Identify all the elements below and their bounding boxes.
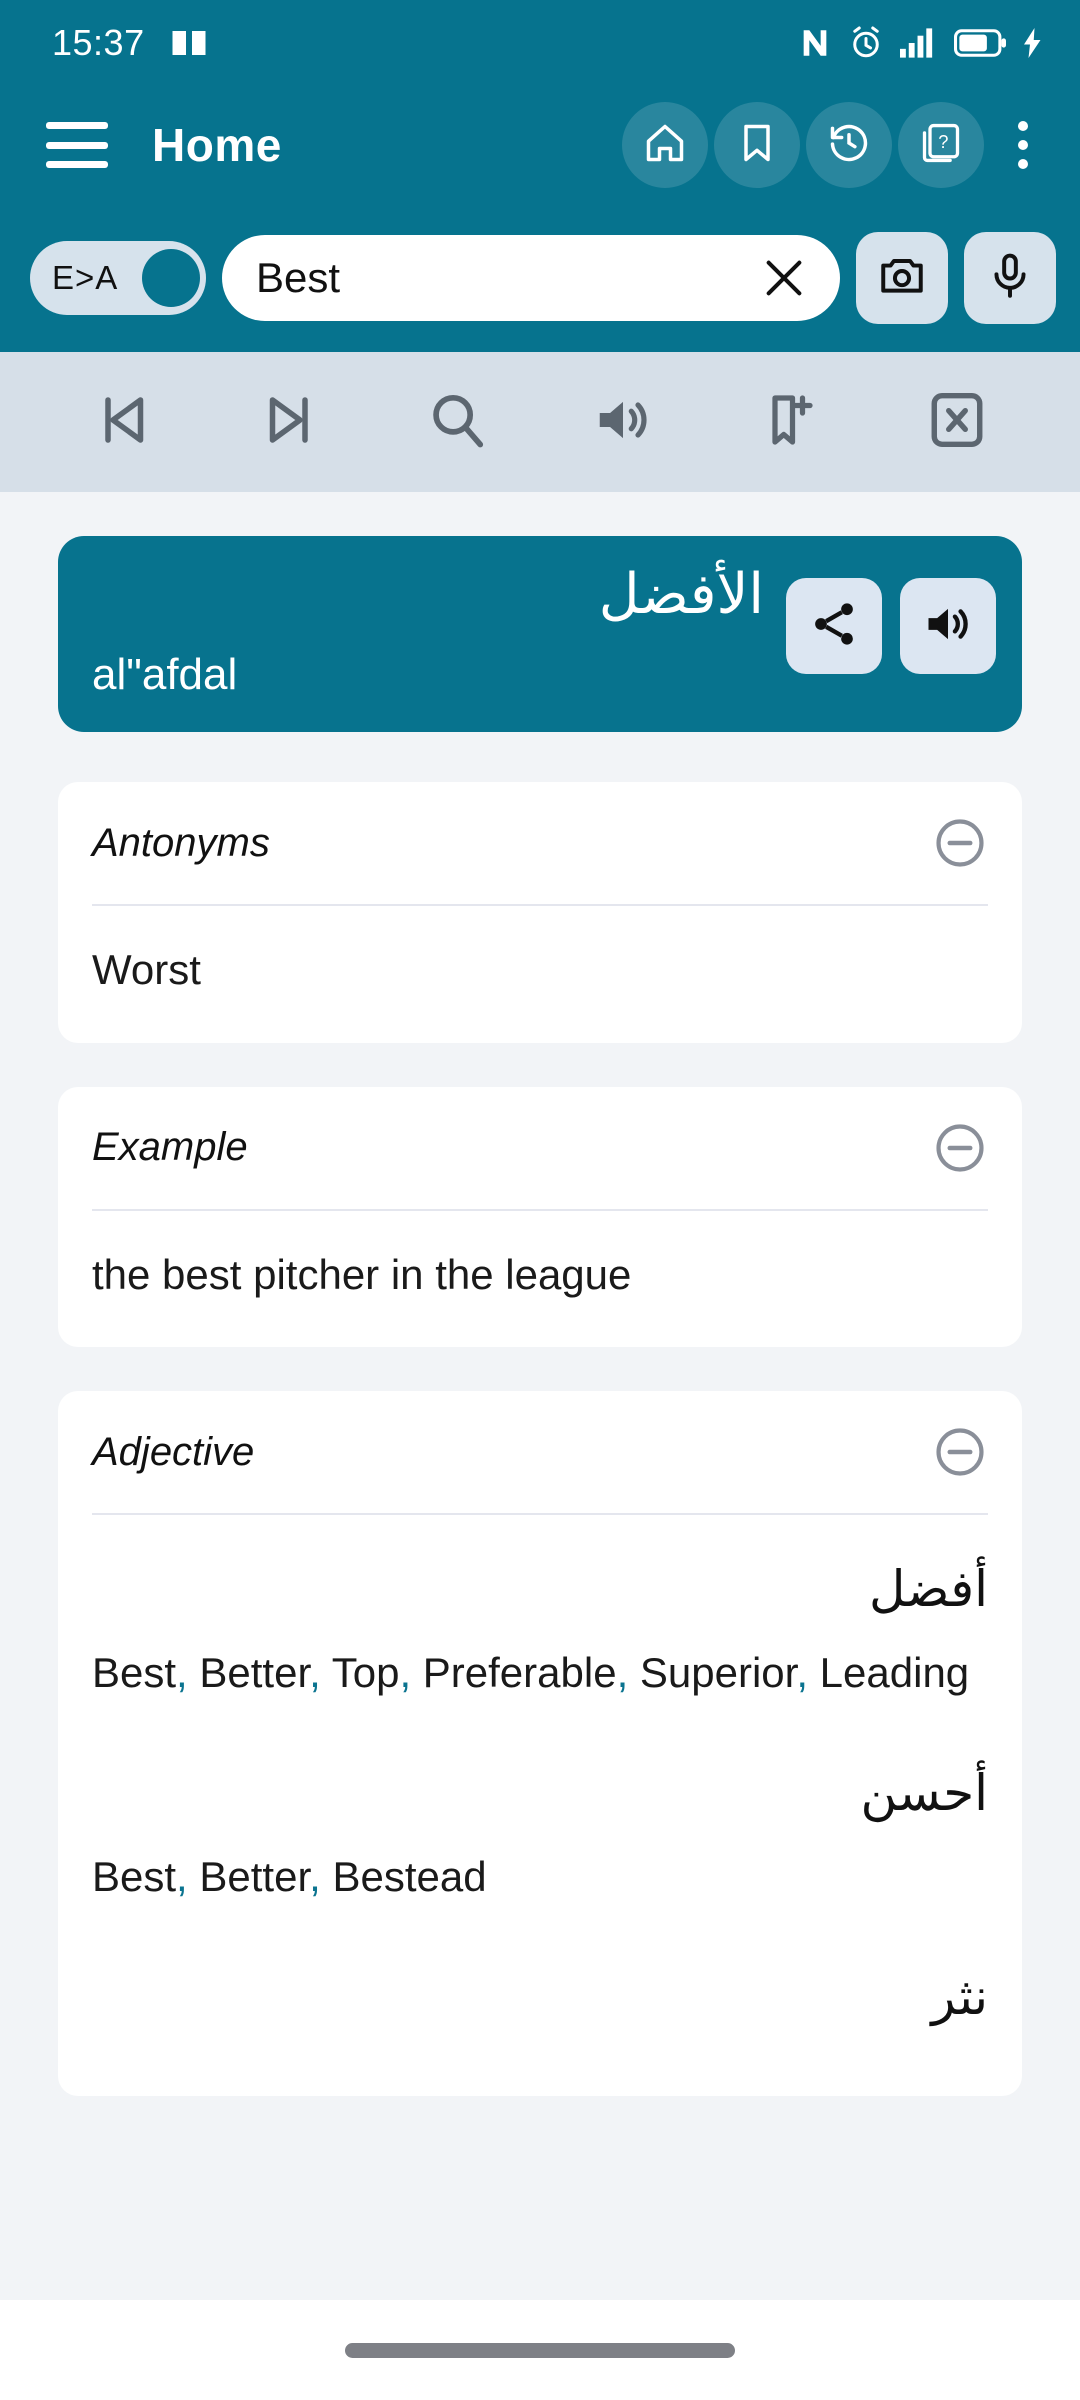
next-icon xyxy=(260,390,320,455)
section-header[interactable]: Example xyxy=(92,1087,988,1209)
system-navigation-bar xyxy=(0,2300,1080,2400)
microphone-button[interactable] xyxy=(964,232,1056,324)
section-body: the best pitcher in the league xyxy=(92,1211,988,1348)
speaker-icon xyxy=(922,598,974,655)
kebab-menu-icon[interactable] xyxy=(996,102,1050,188)
sense-english: Best, Better, Bestead xyxy=(92,1848,988,1907)
sense-arabic: أحسن xyxy=(92,1761,988,1826)
sense-arabic: نثر xyxy=(92,1965,988,2030)
results-content: الأفضل al"afdal Antonyms Worst Example xyxy=(0,492,1080,2400)
home-indicator[interactable] xyxy=(345,2343,735,2358)
share-icon xyxy=(808,598,860,655)
app-bar: Home xyxy=(0,86,1080,204)
section-header[interactable]: Adjective xyxy=(92,1391,988,1513)
speaker-icon xyxy=(592,389,654,456)
next-button[interactable] xyxy=(236,368,344,476)
antonyms-text: Worst xyxy=(92,942,988,999)
headword-card: الأفضل al"afdal xyxy=(58,536,1022,732)
pronounce-button[interactable] xyxy=(569,368,677,476)
share-button[interactable] xyxy=(786,578,882,674)
camera-button[interactable] xyxy=(856,232,948,324)
sense-english: Best, Better, Top, Preferable, Superior,… xyxy=(92,1644,988,1703)
charging-bolt-icon xyxy=(1022,28,1044,58)
signal-bars-icon xyxy=(900,28,938,58)
search-bar: E>A Best xyxy=(0,204,1080,352)
sense-arabic: أفضل xyxy=(92,1557,988,1622)
flashcards-button[interactable]: ? xyxy=(898,102,984,188)
language-direction-label: E>A xyxy=(52,259,118,297)
language-direction-toggle[interactable]: E>A xyxy=(30,241,206,315)
search-input-value: Best xyxy=(256,254,758,302)
sense-entry: أحسن Best, Better, Bestead xyxy=(92,1755,988,1907)
close-icon xyxy=(926,389,988,456)
close-button[interactable] xyxy=(903,368,1011,476)
sense-entry: نثر xyxy=(92,1959,988,2030)
minus-circle-icon[interactable] xyxy=(932,1120,988,1176)
navigation-toolbar xyxy=(0,352,1080,492)
previous-icon xyxy=(93,390,153,455)
book-icon xyxy=(171,28,207,58)
status-bar: 15:37 xyxy=(0,0,1080,86)
history-button[interactable] xyxy=(806,102,892,188)
section-title: Antonyms xyxy=(92,821,270,866)
app-screen: 15:37 xyxy=(0,0,1080,2400)
alarm-icon xyxy=(848,25,884,61)
home-icon xyxy=(643,121,687,170)
section-card-adjective: Adjective أفضل Best, Better, Top, Prefer… xyxy=(58,1391,1022,2096)
hamburger-icon[interactable] xyxy=(46,122,108,168)
headword-actions xyxy=(786,578,996,674)
section-body: Worst xyxy=(92,906,988,1043)
status-bar-left: 15:37 xyxy=(52,22,207,64)
section-card-antonyms: Antonyms Worst xyxy=(58,782,1022,1043)
section-title: Example xyxy=(92,1125,248,1170)
nfc-icon xyxy=(798,26,832,60)
add-bookmark-button[interactable] xyxy=(736,368,844,476)
search-icon xyxy=(426,389,488,456)
section-title: Adjective xyxy=(92,1430,254,1475)
example-text: the best pitcher in the league xyxy=(92,1247,988,1304)
bookmark-icon xyxy=(735,121,779,170)
search-button[interactable] xyxy=(403,368,511,476)
section-body: أفضل Best, Better, Top, Preferable, Supe… xyxy=(92,1515,988,2096)
toggle-knob xyxy=(142,249,200,307)
pronounce-headword-button[interactable] xyxy=(900,578,996,674)
battery-icon xyxy=(954,29,1006,57)
history-icon xyxy=(827,121,871,170)
section-card-example: Example the best pitcher in the league xyxy=(58,1087,1022,1348)
minus-circle-icon[interactable] xyxy=(932,815,988,871)
previous-button[interactable] xyxy=(69,368,177,476)
minus-circle-icon[interactable] xyxy=(932,1424,988,1480)
svg-text:?: ? xyxy=(938,130,948,151)
bookmark-button[interactable] xyxy=(714,102,800,188)
bookmark-add-icon xyxy=(760,390,820,455)
flashcards-icon: ? xyxy=(919,121,963,170)
microphone-icon xyxy=(985,251,1035,306)
close-x-icon[interactable] xyxy=(758,252,810,304)
camera-icon xyxy=(877,251,927,306)
search-input[interactable]: Best xyxy=(222,235,840,321)
section-header[interactable]: Antonyms xyxy=(92,782,988,904)
sense-entry: أفضل Best, Better, Top, Preferable, Supe… xyxy=(92,1551,988,1703)
app-bar-actions: ? xyxy=(622,102,1050,188)
status-time: 15:37 xyxy=(52,22,145,64)
page-title: Home xyxy=(152,118,282,172)
status-bar-right xyxy=(798,25,1044,61)
home-button[interactable] xyxy=(622,102,708,188)
